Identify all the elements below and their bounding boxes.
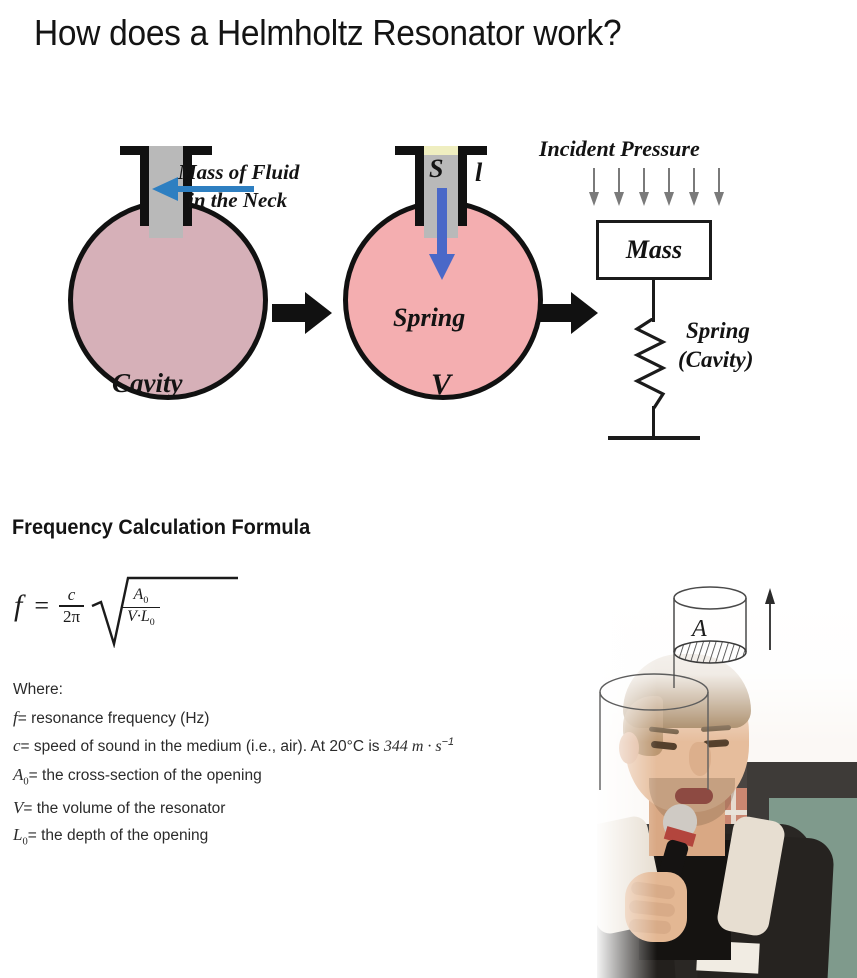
flask1-neck-label-line1: Mass of Fluid: [178, 160, 299, 185]
incident-pressure-arrows: [588, 168, 725, 208]
definition-v: V= the volume of the resonator: [13, 799, 593, 817]
pressure-arrow-icon: [688, 168, 700, 208]
flask1-neck-label-line2: in the Neck: [188, 188, 287, 213]
definition-text-l0: = the depth of the opening: [28, 827, 209, 844]
pressure-arrow-icon: [613, 168, 625, 208]
formula-lhs: f: [14, 589, 34, 623]
ground-line: [608, 436, 700, 440]
flask1-cavity-label: Cavity: [112, 368, 182, 399]
pressure-arrow-icon: [663, 168, 675, 208]
mass-spring-connector-rod: [652, 280, 655, 322]
where-heading: Where:: [13, 682, 593, 698]
resonator-analogy-diagram: Mass of Fluid in the Neck Cavity S l Spr…: [0, 128, 857, 448]
mass-box: Mass: [596, 220, 712, 280]
flask2-downward-flow-arrow: [427, 188, 457, 282]
sound-speed-value: 344: [384, 738, 408, 755]
formula-equals: =: [34, 591, 59, 621]
definition-symbol-a0: A0: [13, 765, 29, 784]
flask2-volume-label: V: [431, 368, 451, 402]
definition-symbol-c: c: [13, 736, 21, 755]
frequency-formula: f = c 2π A0 V·L0: [14, 566, 160, 646]
spring-cavity-label-line1: Spring: [686, 318, 750, 344]
slide-canvas: How does a Helmholtz Resonator work? Mas…: [0, 0, 857, 978]
radical-sign-icon: [90, 570, 240, 648]
page-title: How does a Helmholtz Resonator work?: [34, 12, 769, 54]
definition-text-c: = speed of sound in the medium (i.e., ai…: [21, 738, 384, 755]
transition-arrow-1: [272, 290, 332, 336]
pressure-arrow-icon: [588, 168, 600, 208]
opening-cross-section-sketch: A: [660, 580, 790, 705]
sound-speed-unit-text: m · s: [412, 738, 442, 755]
flask-cavity-diagram: Mass of Fluid in the Neck Cavity: [60, 128, 280, 438]
spring-ground-rod: [652, 406, 655, 438]
definition-text-f: = resonance frequency (Hz): [18, 710, 210, 727]
flask2-neck-length-label: l: [475, 158, 482, 188]
flask2-spring-label: Spring: [393, 303, 465, 333]
definition-symbol-v: V: [13, 798, 23, 817]
variable-definitions-list: Where: f= resonance frequency (Hz) c= sp…: [13, 682, 593, 857]
flask2-neck-left-wall: [415, 146, 424, 226]
flask2-area-label: S: [429, 154, 443, 184]
flask2-neck-right-lip: [458, 146, 487, 155]
flask-spring-diagram: S l Spring V: [335, 128, 555, 438]
transition-arrow-2: [538, 290, 598, 336]
square-root: A0 V·L0: [90, 570, 160, 642]
formula-coefficient-fraction: c 2π: [59, 586, 84, 626]
flask2-neck-left-lip: [395, 146, 424, 155]
spring-coil: [632, 318, 676, 410]
pressure-arrow-icon: [713, 168, 725, 208]
mass-spring-model: Incident Pressure Mass Spring: [590, 128, 850, 438]
flask1-neck-left-lip: [120, 146, 149, 155]
cross-section-area-label: A: [690, 616, 707, 642]
mass-box-label: Mass: [626, 235, 682, 265]
definition-text-v: = the volume of the resonator: [23, 800, 225, 817]
definition-l0: L0= the depth of the opening: [13, 826, 593, 848]
definition-symbol-l0: L0: [13, 825, 28, 844]
formula-coefficient-numerator: c: [64, 586, 80, 605]
flask2-neck-right-wall: [458, 146, 467, 226]
definition-a0: A0= the cross-section of the opening: [13, 766, 593, 788]
definition-text-a0: = the cross-section of the opening: [29, 767, 262, 784]
spring-cavity-label-line2: (Cavity): [678, 347, 753, 373]
definition-f: f= resonance frequency (Hz): [13, 709, 593, 727]
flask1-neck-right-lip: [183, 146, 212, 155]
incident-pressure-label: Incident Pressure: [539, 136, 700, 162]
pressure-arrow-icon: [638, 168, 650, 208]
formula-coefficient-denominator: 2π: [59, 607, 84, 626]
formula-section-heading: Frequency Calculation Formula: [12, 516, 310, 540]
definition-c: c= speed of sound in the medium (i.e., a…: [13, 737, 593, 755]
sound-speed-exponent: −1: [442, 736, 454, 748]
